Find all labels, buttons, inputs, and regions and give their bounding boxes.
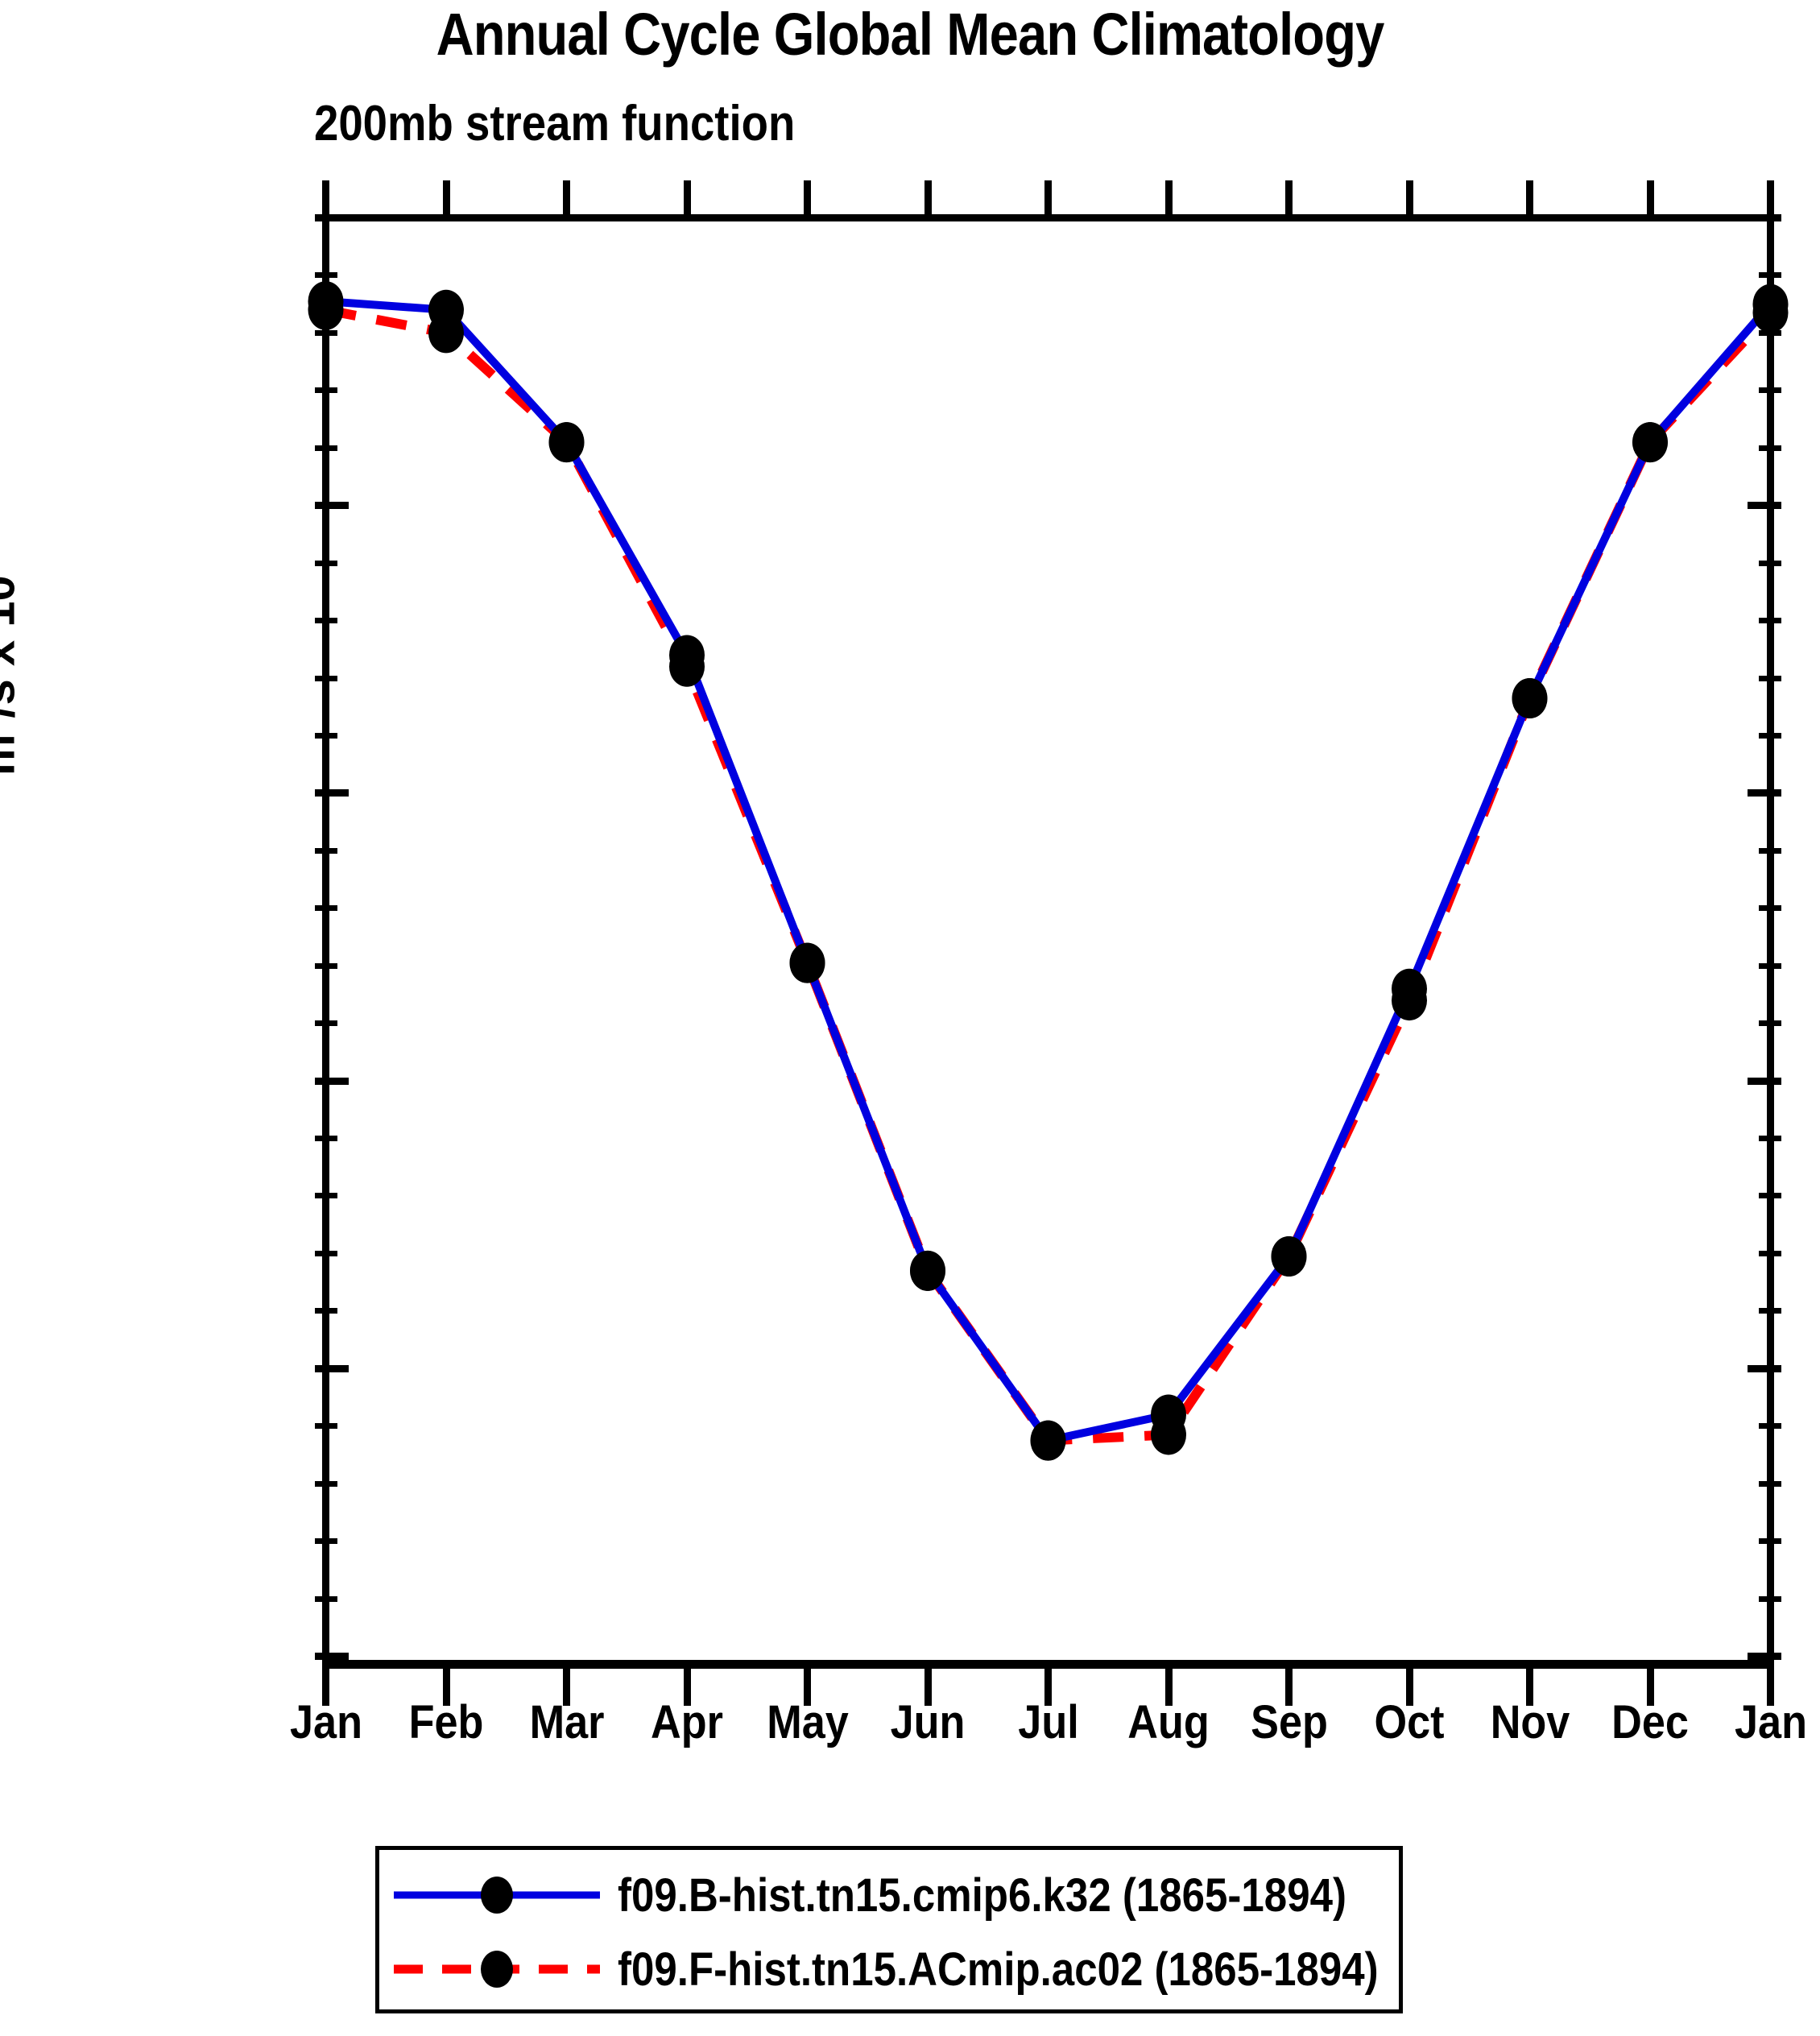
x-top-tick <box>443 180 450 214</box>
legend-item[interactable]: f09.F-hist.tn15.ACmip.ac02 (1865-1894) <box>379 1934 1399 2005</box>
x-top-tick <box>684 180 691 214</box>
filled-circle-icon <box>481 1877 513 1914</box>
series-layer <box>322 214 1774 1669</box>
x-top-tick <box>322 180 329 214</box>
x-tick-label: Jul <box>1018 1695 1078 1749</box>
x-tick-label: Oct <box>1374 1695 1444 1749</box>
legend: f09.B-hist.tn15.cmip6.k32 (1865-1894) f0… <box>375 1846 1403 2013</box>
x-top-tick <box>1165 180 1173 214</box>
page-title: Annual Cycle Global Mean Climatology <box>110 0 1711 68</box>
x-tick-label: Aug <box>1127 1695 1209 1749</box>
series-line <box>326 310 1771 1441</box>
x-tick-label: Nov <box>1490 1695 1570 1749</box>
x-top-tick <box>924 180 932 214</box>
x-tick-label: Jan <box>290 1695 362 1749</box>
legend-item[interactable]: f09.B-hist.tn15.cmip6.k32 (1865-1894) <box>379 1860 1399 1930</box>
data-point-marker <box>1512 678 1548 718</box>
x-top-tick <box>1526 180 1533 214</box>
legend-label: f09.F-hist.tn15.ACmip.ac02 (1865-1894) <box>618 1943 1379 1997</box>
data-point-marker <box>549 422 585 462</box>
plot-area <box>322 214 1774 1669</box>
x-top-tick <box>1647 180 1654 214</box>
data-point-marker <box>790 943 825 983</box>
x-top-tick <box>563 180 570 214</box>
x-tick-label: May <box>767 1695 849 1749</box>
data-point-marker <box>1151 1414 1186 1455</box>
y-axis-title: m2/s x 107 <box>0 386 26 950</box>
x-top-tick <box>1767 180 1774 214</box>
data-point-marker <box>910 1251 945 1291</box>
x-tick-label: Jan <box>1735 1695 1807 1749</box>
data-point-marker <box>308 290 344 330</box>
x-top-tick <box>1406 180 1413 214</box>
data-point-marker <box>1031 1421 1066 1461</box>
legend-swatch-series-1 <box>394 1877 600 1913</box>
series-line <box>326 301 1771 1441</box>
chart-canvas: Annual Cycle Global Mean Climatology 200… <box>0 0 1820 2036</box>
legend-swatch-series-2 <box>394 1951 600 1987</box>
filled-circle-icon <box>481 1951 513 1988</box>
data-point-marker <box>1753 292 1789 333</box>
data-point-marker <box>1392 980 1427 1020</box>
x-tick-label: Jun <box>891 1695 966 1749</box>
x-top-tick <box>1285 180 1293 214</box>
x-tick-label: Feb <box>409 1695 484 1749</box>
data-point-marker <box>1632 422 1668 462</box>
x-tick-label: Apr <box>651 1695 723 1749</box>
x-tick-label: Dec <box>1611 1695 1689 1749</box>
data-point-marker <box>428 312 464 353</box>
legend-label: f09.B-hist.tn15.cmip6.k32 (1865-1894) <box>618 1868 1346 1922</box>
x-tick-label: Sep <box>1251 1695 1328 1749</box>
x-top-tick <box>804 180 811 214</box>
chart-subtitle: 200mb stream function <box>314 95 795 152</box>
data-point-marker <box>1272 1236 1307 1277</box>
x-tick-label: Mar <box>529 1695 604 1749</box>
x-top-tick <box>1044 180 1052 214</box>
data-point-marker <box>669 647 705 687</box>
